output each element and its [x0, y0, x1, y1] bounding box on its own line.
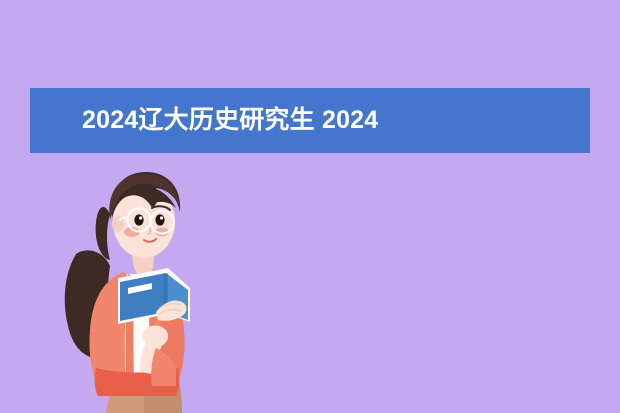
page-title: 2024辽大历史研究生 2024	[82, 108, 378, 133]
hair-side-left	[96, 207, 110, 260]
eye-left-highlight	[139, 216, 142, 219]
title-banner: 2024辽大历史研究生 2024	[30, 88, 590, 153]
eye-right-highlight	[160, 216, 163, 219]
glasses-bridge-bar	[150, 220, 151, 221]
eye-right	[155, 214, 164, 225]
screenshot-canvas: 2024辽大历史研究生 2024	[0, 0, 620, 413]
eye-left	[134, 214, 143, 225]
woman-reading-book-illustration	[40, 162, 230, 413]
